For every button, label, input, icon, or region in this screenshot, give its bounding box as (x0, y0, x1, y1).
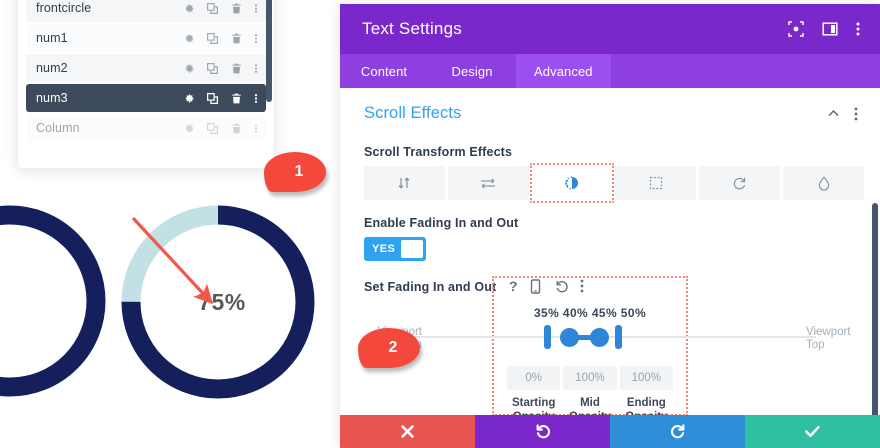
save-button[interactable] (745, 415, 880, 448)
panel-header: Text Settings (340, 4, 880, 54)
blur-icon[interactable] (783, 166, 864, 200)
set-fading-row: Set Fading In and Out ? (364, 279, 864, 294)
panel-header-actions (788, 21, 860, 37)
duplicate-icon[interactable] (206, 32, 219, 45)
chevron-up-icon[interactable] (827, 107, 840, 120)
reset-icon[interactable] (555, 279, 568, 294)
ending-opacity-input[interactable]: 100% (620, 366, 673, 390)
viewport-top-line1: Viewport (806, 326, 864, 339)
trash-icon[interactable] (230, 32, 243, 45)
text-settings-panel: Text Settings (340, 4, 880, 448)
vertical-dots-icon[interactable] (580, 279, 584, 294)
caption-line2: Opacity (620, 410, 673, 415)
panel-scrollbar[interactable] (872, 203, 878, 415)
layer-row-column[interactable]: Column (26, 114, 266, 142)
duplicate-icon[interactable] (206, 122, 219, 135)
slider-handle-mid-b[interactable] (590, 328, 609, 347)
tab-design[interactable]: Design (428, 54, 516, 88)
layout-columns-icon[interactable] (822, 21, 838, 37)
panel-body: Scroll Effects Scroll Transform Effects (340, 88, 880, 415)
slider-handle-end[interactable] (615, 325, 622, 349)
ending-opacity-caption: Ending Opacity (620, 396, 673, 415)
duplicate-icon[interactable] (206, 92, 219, 105)
gear-icon[interactable] (182, 32, 195, 45)
callout-badge-2: 2 (358, 328, 420, 368)
toggle-value: YES (367, 243, 401, 255)
mid-opacity-field: 100% Mid Opacity (563, 366, 616, 415)
layer-name: Column (36, 121, 182, 135)
layers-panel: shield frontcircle num1 (18, 0, 274, 168)
vertical-dots-icon[interactable] (254, 62, 258, 75)
layer-row-actions (182, 2, 260, 15)
slider-handle-start[interactable] (544, 325, 551, 349)
viewport-top-line2: Top (806, 339, 864, 352)
starting-opacity-caption: Starting Opacity (507, 396, 560, 415)
gear-icon[interactable] (182, 92, 195, 105)
panel-action-bar (340, 415, 880, 448)
mid-opacity-caption: Mid Opacity (563, 396, 616, 415)
gear-icon[interactable] (182, 2, 195, 15)
redo-button[interactable] (610, 415, 745, 448)
caption-line1: Mid (563, 396, 616, 410)
horizontal-motion-icon[interactable] (448, 166, 529, 200)
mobile-icon[interactable] (530, 279, 543, 294)
viewport-top-label: Viewport Top (806, 326, 864, 352)
fading-slider-widget: 35% 40% 45% 50% Viewport Bottom Viewport… (364, 298, 864, 415)
layer-name: num3 (36, 91, 182, 105)
ending-opacity-field: 100% Ending Opacity (620, 366, 673, 415)
layer-row-actions (182, 62, 260, 75)
layer-row-num1[interactable]: num1 (26, 24, 266, 52)
layer-row-num2[interactable]: num2 (26, 54, 266, 82)
callout-badge-1: 1 (264, 152, 326, 192)
page-canvas: shield frontcircle num1 (0, 0, 340, 448)
donut-chart-secondary (0, 196, 115, 406)
layer-row-actions (182, 122, 260, 135)
scroll-transform-options (364, 166, 864, 200)
fading-in-out-icon[interactable] (532, 166, 613, 200)
duplicate-icon[interactable] (206, 62, 219, 75)
starting-opacity-input[interactable]: 0% (507, 366, 560, 390)
handle-percent-labels: 35% 40% 45% 50% (492, 306, 688, 320)
tab-advanced[interactable]: Advanced (516, 54, 611, 88)
callout-number: 1 (287, 163, 304, 181)
enable-fading-toggle[interactable]: YES (364, 237, 426, 261)
toggle-knob (401, 240, 423, 258)
donut-svg (0, 196, 115, 406)
scroll-effects-section-header: Scroll Effects (364, 88, 864, 129)
layer-name: num2 (36, 61, 182, 75)
cancel-button[interactable] (340, 415, 475, 448)
panel-title: Text Settings (362, 19, 788, 39)
opacity-inputs: 0% Starting Opacity 100% Mid Opacity (507, 366, 673, 415)
caption-line2: Opacity (563, 410, 616, 415)
gear-icon[interactable] (182, 122, 195, 135)
layers-scrollbar[interactable] (266, 0, 272, 102)
vertical-dots-icon[interactable] (254, 92, 258, 105)
help-icon[interactable]: ? (508, 279, 518, 294)
caption-line1: Starting (507, 396, 560, 410)
vertical-dots-icon[interactable] (254, 32, 258, 45)
layer-row-actions (182, 92, 260, 105)
screenshot-root: shield frontcircle num1 (0, 0, 880, 448)
trash-icon[interactable] (230, 2, 243, 15)
trash-icon[interactable] (230, 62, 243, 75)
set-fading-label: Set Fading In and Out (364, 280, 496, 294)
annotation-arrow (112, 196, 324, 408)
panel-tabs: Content Design Advanced (340, 54, 880, 88)
vertical-dots-icon[interactable] (254, 122, 258, 135)
layer-row-num3[interactable]: num3 (26, 84, 266, 112)
vertical-dots-icon[interactable] (854, 107, 858, 121)
layer-name: num1 (36, 31, 182, 45)
slider-handle-mid-a[interactable] (560, 328, 579, 347)
scaling-up-down-icon[interactable] (615, 166, 696, 200)
focus-frame-icon[interactable] (788, 21, 804, 37)
slider-track[interactable] (406, 336, 816, 338)
trash-icon[interactable] (230, 122, 243, 135)
section-controls (827, 107, 864, 121)
vertical-motion-icon[interactable] (364, 166, 445, 200)
trash-icon[interactable] (230, 92, 243, 105)
scroll-transform-label: Scroll Transform Effects (364, 145, 864, 159)
caption-line1: Ending (620, 396, 673, 410)
layer-row-actions (182, 32, 260, 45)
rotating-icon[interactable] (699, 166, 780, 200)
layer-name: frontcircle (36, 1, 182, 15)
tab-content[interactable]: Content (340, 54, 428, 88)
section-title: Scroll Effects (364, 104, 827, 123)
gear-icon[interactable] (182, 62, 195, 75)
vertical-dots-icon[interactable] (856, 21, 860, 37)
caption-line2: Opacity (507, 410, 560, 415)
callout-number: 2 (381, 339, 398, 357)
duplicate-icon[interactable] (206, 2, 219, 15)
starting-opacity-field: 0% Starting Opacity (507, 366, 560, 415)
undo-button[interactable] (475, 415, 610, 448)
mid-opacity-input[interactable]: 100% (563, 366, 616, 390)
vertical-dots-icon[interactable] (254, 2, 258, 15)
enable-fading-label: Enable Fading In and Out (364, 216, 864, 230)
layer-row-frontcircle[interactable]: frontcircle (26, 0, 266, 22)
